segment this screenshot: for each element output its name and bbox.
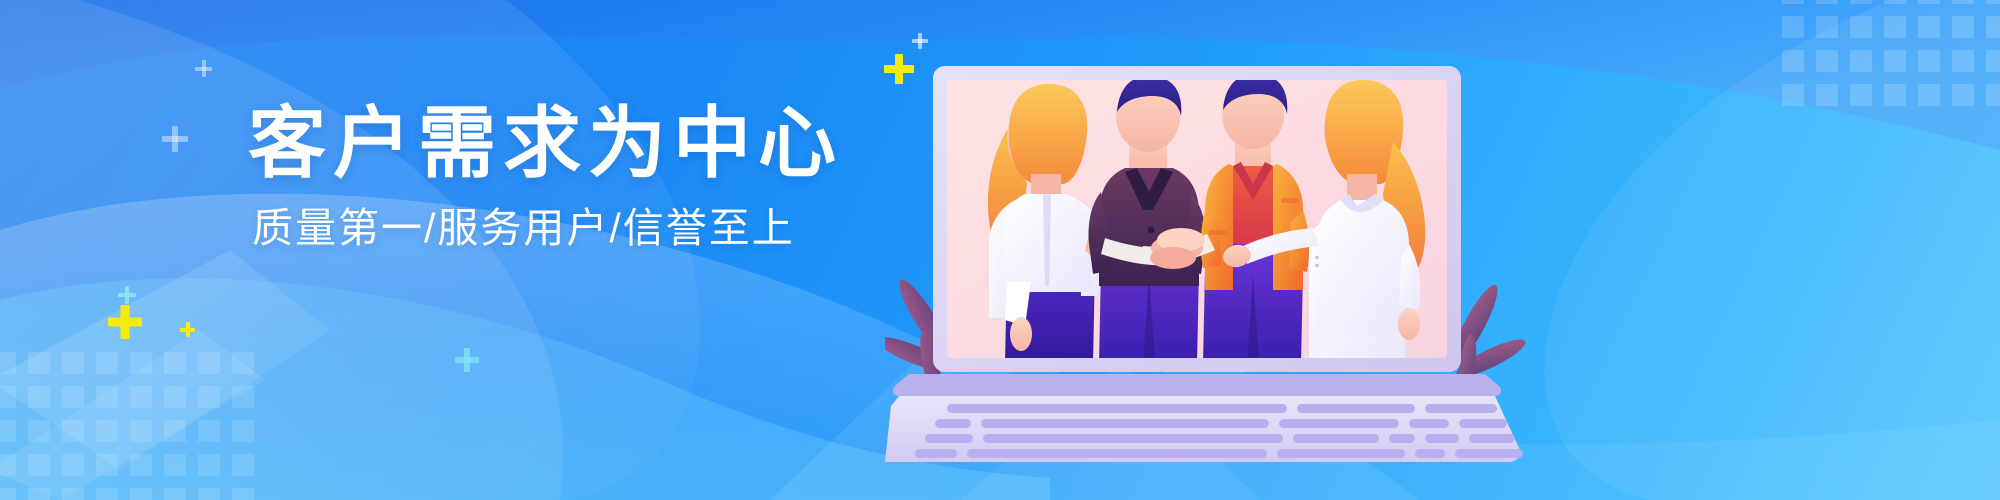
dot-grid-top-right [1782,0,2000,106]
laptop-base [893,374,1501,396]
laptop-teamwork-illustration [885,34,1625,464]
plus-yellow-small-left-icon [180,322,195,337]
dot-grid-bottom-left [0,352,254,500]
plus-yellow-large-left-icon [108,305,142,339]
plus-white-mid-icon [162,126,188,152]
plus-white-top-icon [195,60,212,77]
page-title: 客户需求为中心 [248,104,808,182]
promotional-banner: 客户需求为中心 质量第一/服务用户/信誉至上 [0,0,2000,500]
plus-cyan-small-left-icon [118,286,136,304]
plus-cyan-bottom-icon [455,348,479,372]
headline-block: 客户需求为中心 质量第一/服务用户/信誉至上 [248,104,808,249]
page-subtitle: 质量第一/服务用户/信誉至上 [252,208,808,249]
